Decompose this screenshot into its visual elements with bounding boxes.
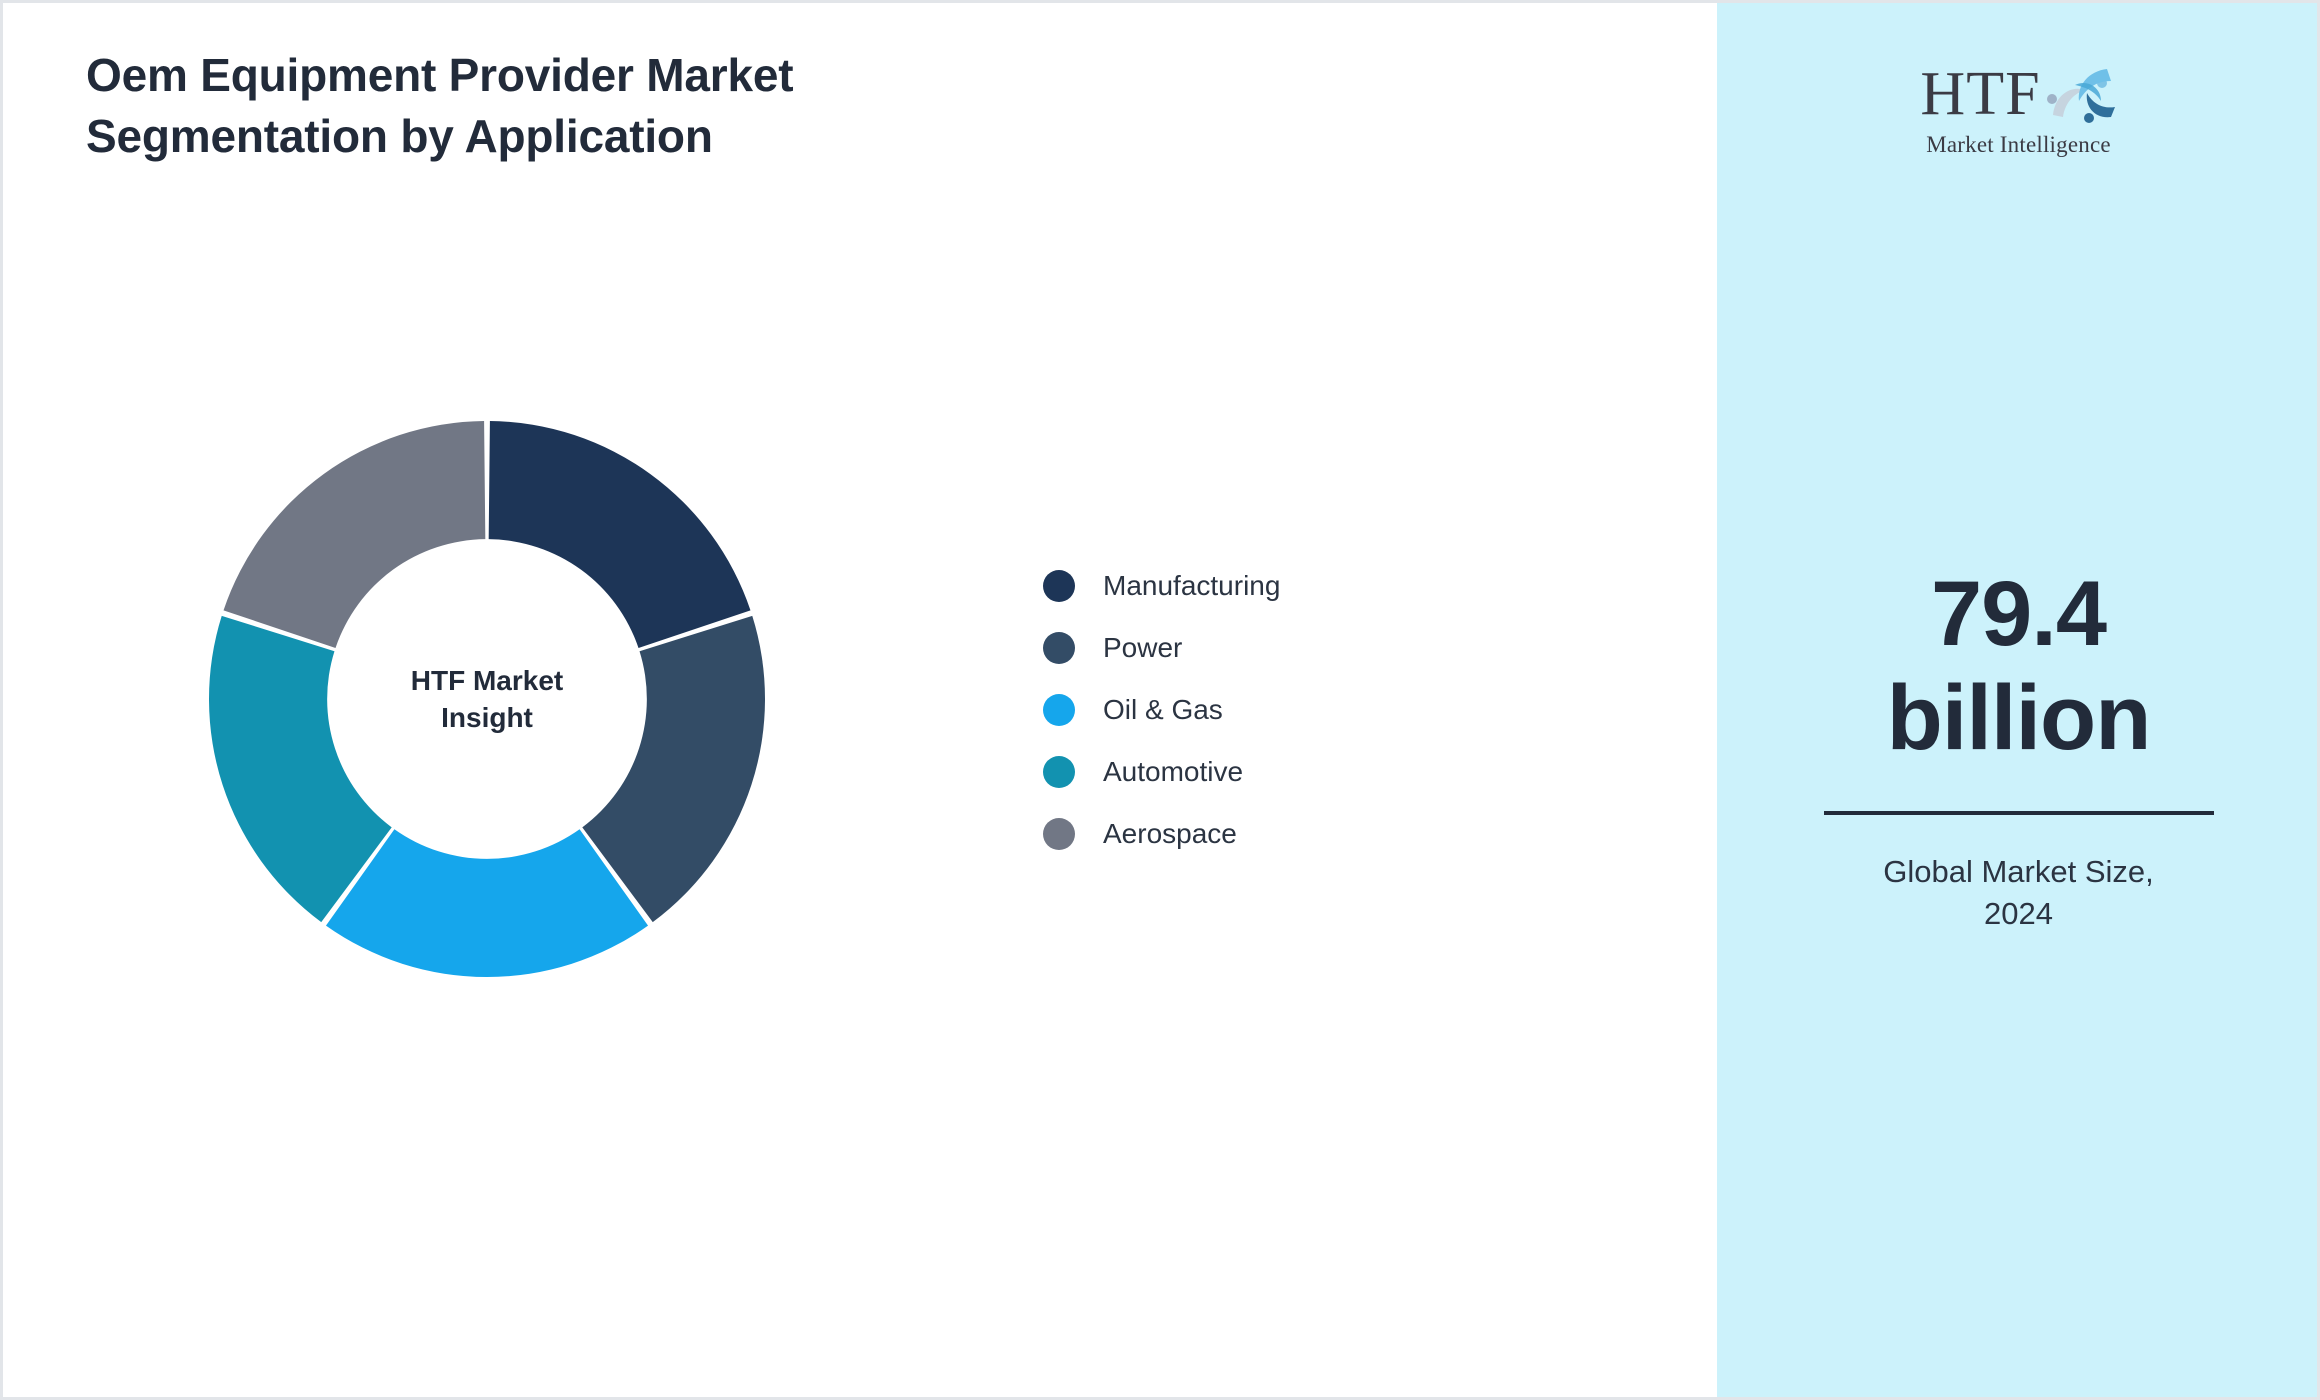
donut-chart-svg: [209, 421, 765, 977]
donut-slice[interactable]: [489, 421, 751, 648]
logo-subtitle: Market Intelligence: [1894, 132, 2144, 158]
legend-label: Aerospace: [1103, 818, 1237, 850]
stat-caption-line-1: Global Market Size,: [1809, 851, 2229, 893]
legend-item[interactable]: Manufacturing: [1043, 555, 1280, 617]
stat-value-line-1: 79.4: [1809, 563, 2229, 667]
three-dolphin-swirl-icon: [2045, 59, 2117, 130]
legend-item[interactable]: Oil & Gas: [1043, 679, 1280, 741]
legend-label: Manufacturing: [1103, 570, 1280, 602]
legend-swatch-icon: [1043, 756, 1075, 788]
donut-slice-group: [209, 421, 765, 977]
donut-slice[interactable]: [224, 421, 486, 648]
chart-panel: Oem Equipment Provider Market Segmentati…: [3, 3, 1717, 1397]
chart-infographic-canvas: Oem Equipment Provider Market Segmentati…: [0, 0, 2320, 1400]
legend-swatch-icon: [1043, 694, 1075, 726]
legend-item[interactable]: Aerospace: [1043, 803, 1280, 865]
legend-label: Automotive: [1103, 756, 1243, 788]
donut-chart: HTF Market Insight: [209, 421, 765, 977]
page-title: Oem Equipment Provider Market Segmentati…: [86, 45, 1086, 167]
stat-value-line-2: billion: [1809, 667, 2229, 771]
stat-caption: Global Market Size, 2024: [1809, 851, 2229, 935]
legend-swatch-icon: [1043, 818, 1075, 850]
legend-item[interactable]: Power: [1043, 617, 1280, 679]
legend-label: Oil & Gas: [1103, 694, 1223, 726]
stat-divider: [1824, 811, 2214, 815]
legend-swatch-icon: [1043, 632, 1075, 664]
stat-block: 79.4 billion Global Market Size, 2024: [1809, 563, 2229, 935]
legend-item[interactable]: Automotive: [1043, 741, 1280, 803]
donut-slice[interactable]: [326, 829, 648, 977]
legend-swatch-icon: [1043, 570, 1075, 602]
stat-value: 79.4 billion: [1809, 563, 2229, 771]
logo-wordmark: HTF: [1920, 63, 2040, 125]
chart-legend: ManufacturingPowerOil & GasAutomotiveAer…: [1043, 555, 1280, 865]
stat-sidebar: HTF Market Intelligence 79.4: [1717, 3, 2320, 1397]
brand-logo: HTF Market Intelligence: [1894, 58, 2144, 158]
legend-label: Power: [1103, 632, 1182, 664]
stat-caption-line-2: 2024: [1809, 893, 2229, 935]
